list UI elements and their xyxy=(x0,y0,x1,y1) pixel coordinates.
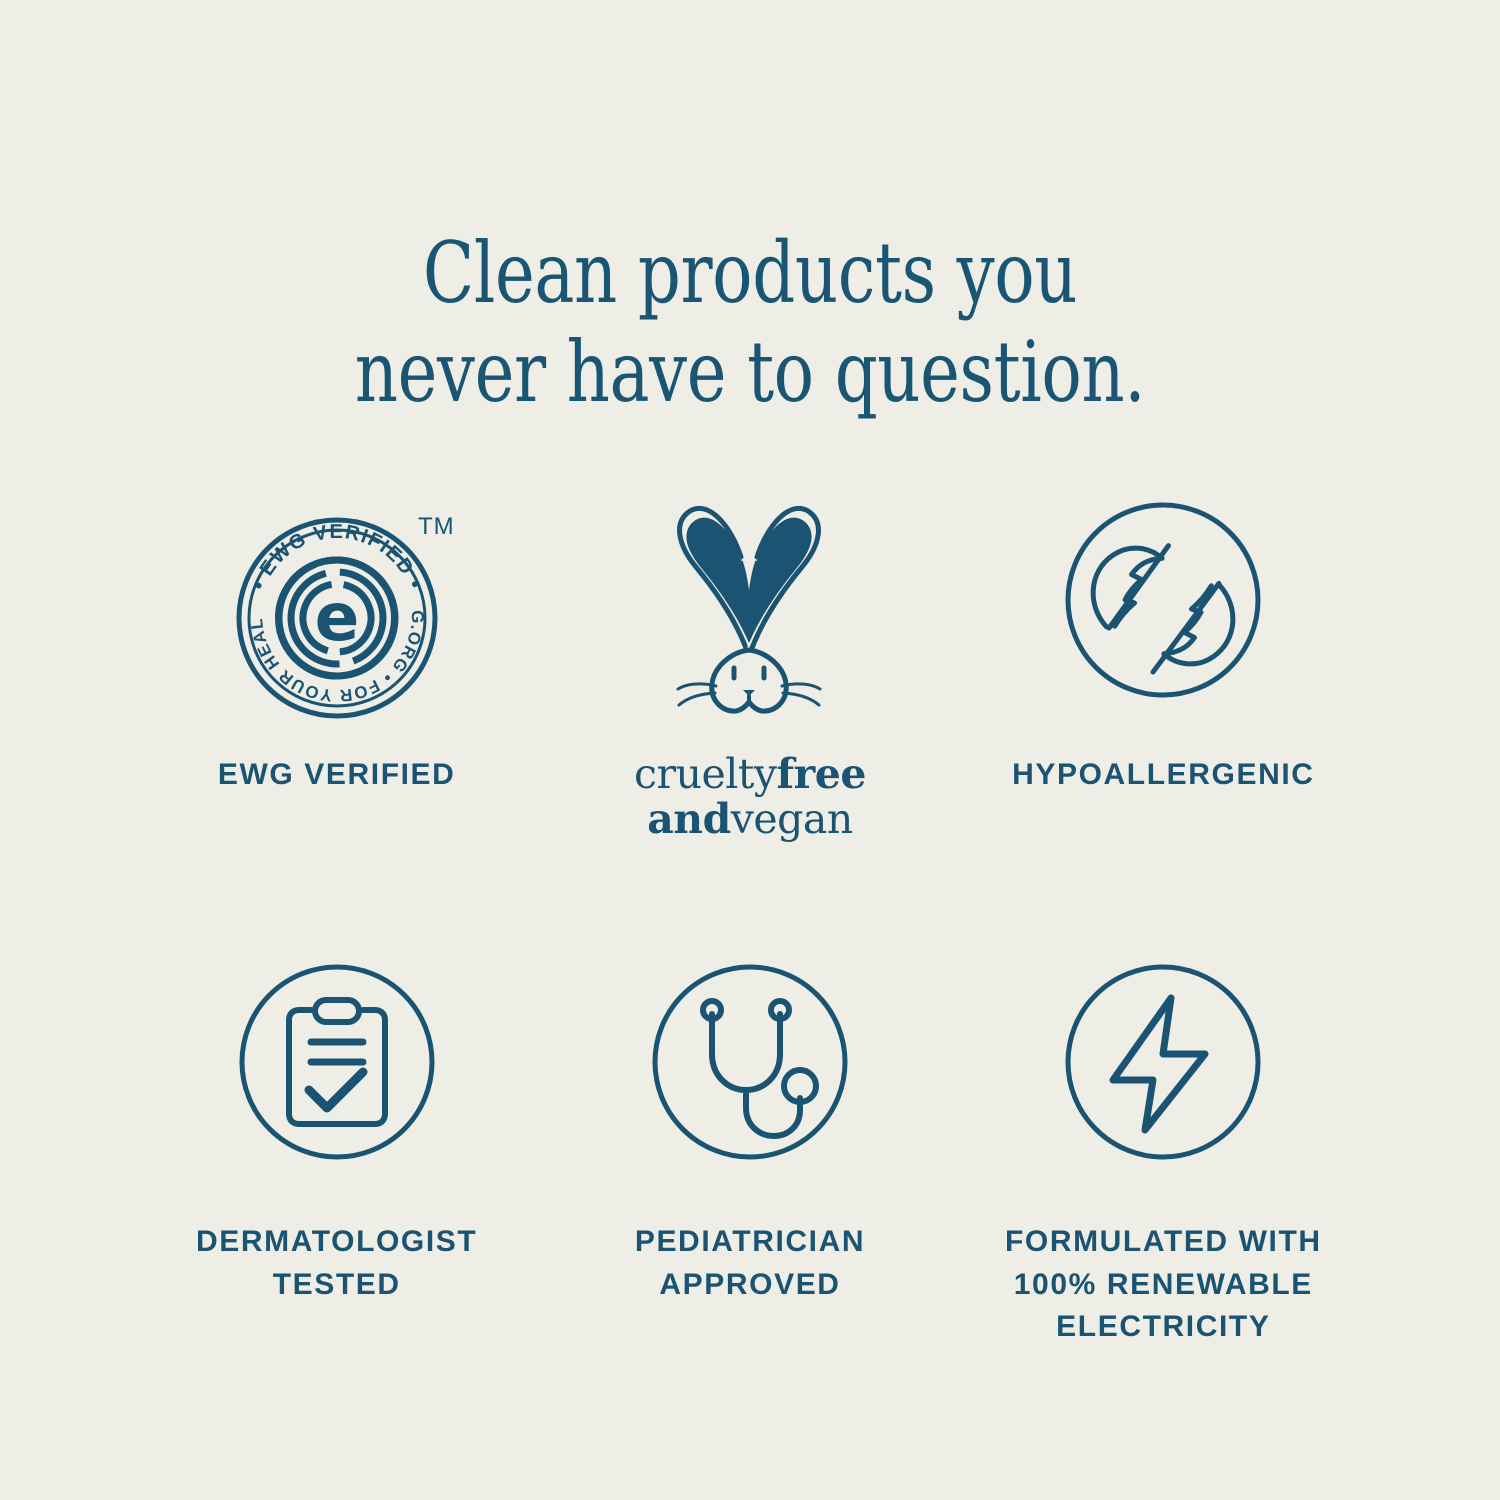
page-title-line-2: never have to question. xyxy=(150,323,1350,422)
promo-badges-page: Clean products you never have to questio… xyxy=(0,0,1500,1500)
trademark-symbol: TM xyxy=(418,513,455,540)
badge-hypoallergenic: HYPOALLERGENIC xyxy=(957,500,1370,842)
lightning-bolt-circle-icon xyxy=(1063,962,1263,1162)
page-title: Clean products you never have to questio… xyxy=(150,224,1350,422)
badge-label: DERMATOLOGIST TESTED xyxy=(196,1221,477,1306)
page-title-line-1: Clean products you xyxy=(150,224,1350,323)
stethoscope-earpiece-left xyxy=(703,1001,721,1019)
clipboard-clip xyxy=(315,1000,359,1022)
bunny-heart-ears-icon xyxy=(642,500,857,730)
two-feathers-circle-icon xyxy=(1063,500,1263,730)
icon-circle xyxy=(655,967,845,1157)
badge-art xyxy=(237,962,437,1197)
badge-art: • EWG VERIFIED • EWG.ORG • FOR YOUR HEAL… xyxy=(222,500,452,750)
clipboard-body xyxy=(289,1010,385,1124)
wordmark-line-1: crueltyfree xyxy=(634,752,866,797)
clipboard-checkmark-circle-icon xyxy=(237,962,437,1162)
ewg-verified-seal-icon: • EWG VERIFIED • EWG.ORG • FOR YOUR HEAL… xyxy=(222,500,452,730)
badge-label: PEDIATRICIAN APPROVED xyxy=(635,1221,865,1306)
cruelty-free-wordmark: crueltyfree andvegan xyxy=(634,752,866,842)
stethoscope-tubing xyxy=(712,1014,780,1090)
feather-lower xyxy=(1134,582,1246,678)
stethoscope-earpiece-right xyxy=(771,1001,789,1019)
badge-label: FORMULATED WITH 100% RENEWABLE ELECTRICI… xyxy=(1005,1221,1322,1349)
badge-art xyxy=(642,500,857,750)
wordmark-and: and xyxy=(647,795,731,843)
bolt-shape xyxy=(1113,998,1205,1130)
seal-monogram: e xyxy=(314,579,359,656)
icon-circle xyxy=(1068,967,1258,1157)
badge-label: EWG VERIFIED xyxy=(218,754,456,797)
badge-dermatologist-tested: DERMATOLOGIST TESTED xyxy=(130,962,543,1349)
badge-art xyxy=(1063,962,1263,1197)
badge-pediatrician-approved: PEDIATRICIAN APPROVED xyxy=(543,962,956,1349)
badge-label: HYPOALLERGENIC xyxy=(1012,754,1314,797)
badge-art xyxy=(650,962,850,1197)
wordmark-cruelty: cruelty xyxy=(634,750,776,798)
stethoscope-circle-icon xyxy=(650,962,850,1162)
badge-cruelty-free-and-vegan: crueltyfree andvegan xyxy=(543,500,956,842)
badge-art xyxy=(1063,500,1263,750)
wordmark-line-2: andvegan xyxy=(634,797,866,842)
wordmark-vegan: vegan xyxy=(731,795,853,843)
badge-ewg-verified: • EWG VERIFIED • EWG.ORG • FOR YOUR HEAL… xyxy=(130,500,543,842)
checkmark-icon xyxy=(309,1072,363,1108)
feather-upper xyxy=(1081,536,1187,630)
badge-renewable-electricity: FORMULATED WITH 100% RENEWABLE ELECTRICI… xyxy=(957,962,1370,1349)
wordmark-free: free xyxy=(777,750,866,798)
badge-grid: • EWG VERIFIED • EWG.ORG • FOR YOUR HEAL… xyxy=(130,500,1370,1349)
